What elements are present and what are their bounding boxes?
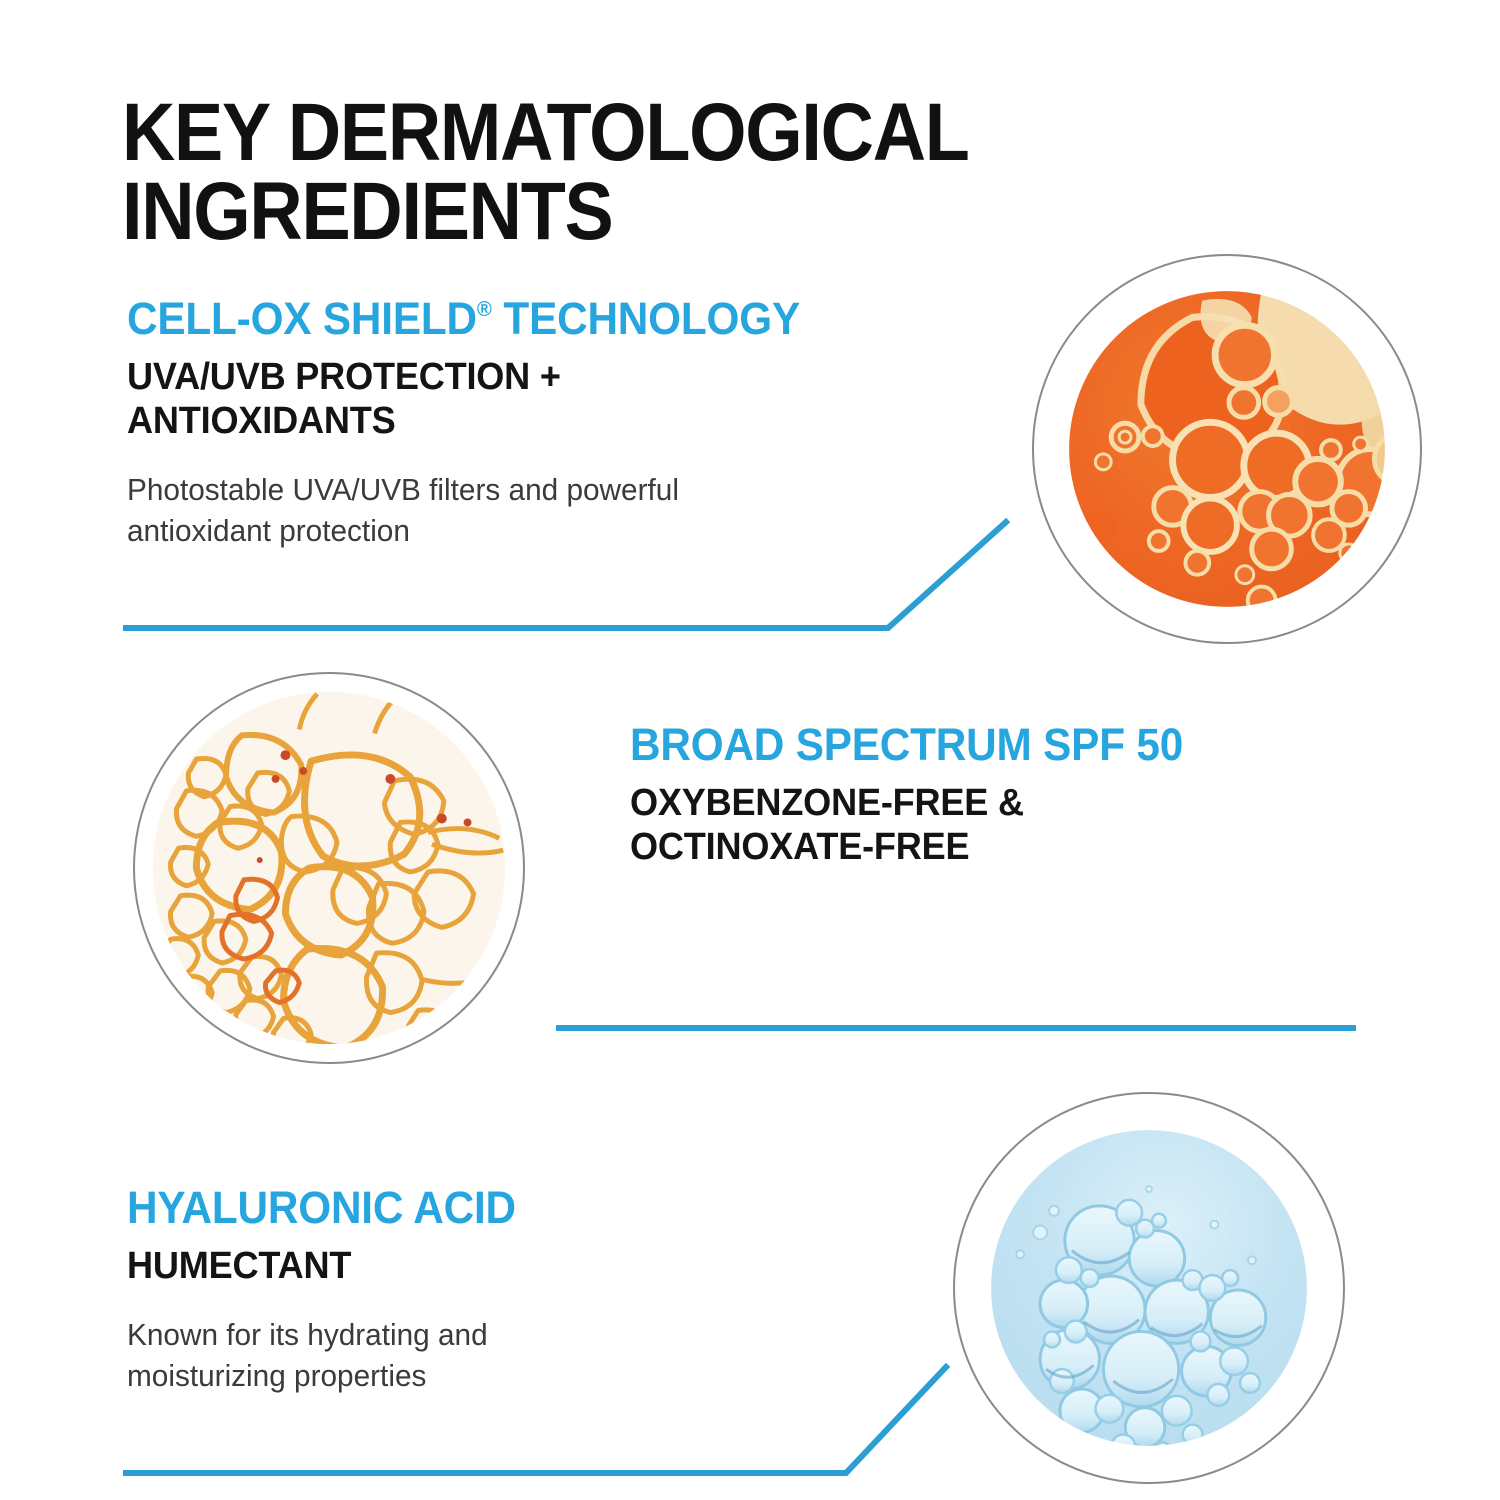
section-subheading-hyaluronic-acid: HUMECTANT (127, 1244, 849, 1288)
orange-oil-droplets-icon (1034, 256, 1420, 642)
figure-cellular-foam-structure-swatch (133, 672, 525, 1064)
section-heading-hyaluronic-acid: HYALURONIC ACID (127, 1185, 841, 1230)
heading-text: HYALURONIC ACID (127, 1182, 516, 1233)
connector-line-bottom (120, 1345, 960, 1490)
blue-gel-bubbles-icon (955, 1094, 1343, 1482)
registered-trademark-icon: ® (477, 296, 492, 321)
figure-orange-oil-droplets-swatch (1032, 254, 1422, 644)
section-heading-cell-ox-shield: CELL-OX SHIELD® TECHNOLOGY (127, 296, 1048, 341)
divider-line-middle (555, 1010, 1355, 1046)
heading-text: BROAD SPECTRUM SPF 50 (630, 719, 1183, 770)
figure-blue-gel-bubbles-swatch (953, 1092, 1345, 1484)
section-subheading-broad-spectrum-spf-50: OXYBENZONE-FREE & OCTINOXATE-FREE (630, 781, 1419, 869)
section-broad-spectrum-spf-50: BROAD SPECTRUM SPF 50 OXYBENZONE-FREE & … (630, 722, 1460, 869)
section-heading-broad-spectrum-spf-50: BROAD SPECTRUM SPF 50 (630, 722, 1410, 767)
heading-text: CELL-OX SHIELD (127, 293, 477, 344)
connector-line-top (120, 500, 1020, 645)
page-title: KEY DERMATOLOGICAL INGREDIENTS (122, 93, 1130, 252)
cellular-foam-structure-icon (135, 674, 523, 1062)
heading-suffix: TECHNOLOGY (492, 293, 800, 344)
section-subheading-cell-ox-shield: UVA/UVB PROTECTION + ANTIOXIDANTS (127, 355, 1058, 443)
